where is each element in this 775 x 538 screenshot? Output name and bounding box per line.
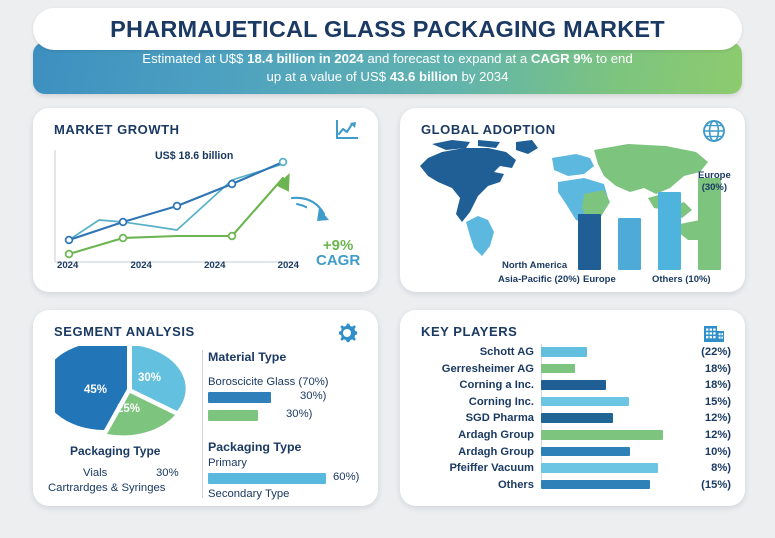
key-player-value: (22%)	[663, 346, 731, 358]
key-player-bar	[541, 397, 629, 407]
key-player-bar	[541, 480, 650, 490]
primary-label: Primary	[208, 457, 247, 469]
cagr-value: +9%	[316, 238, 360, 253]
material-bar-2	[208, 410, 258, 421]
subtitle-highlight-2: CAGR 9%	[531, 51, 593, 66]
key-player-name: Corning a Inc.	[414, 379, 541, 391]
key-player-row: Ardagh Group12%)	[414, 427, 731, 443]
key-player-bar-track	[541, 410, 663, 426]
pie-label-25: 25%	[117, 403, 140, 415]
key-player-row: Ardagh Group10%)	[414, 444, 731, 460]
key-player-bar-track	[541, 444, 663, 460]
key-player-bar	[541, 347, 587, 357]
infographic-root: PHARMAUETICAL GLASS PACKAGING MARKET Est…	[0, 0, 775, 538]
subtitle-part-1: Estimated at U$$	[142, 51, 247, 66]
card-key-players: KEY PLAYERS Schott AG(22%)Gerresheimer A…	[400, 310, 745, 506]
key-player-bar-track	[541, 344, 663, 360]
material-type-heading: Material Type	[208, 350, 286, 364]
card-global-adoption: GLOBAL ADOPTION	[400, 108, 745, 292]
key-player-bar	[541, 413, 613, 423]
adoption-label-europe: Europe	[583, 274, 616, 285]
subtitle-text: Estimated at U$$ 18.4 billion in 2024 an…	[142, 50, 632, 86]
vials-value: 30%	[156, 467, 179, 479]
building-icon	[701, 320, 727, 346]
key-player-value: (15%)	[663, 479, 731, 491]
adoption-label-asia-pacific: Asia-Pacific (20%)	[498, 274, 580, 285]
adoption-bar-others	[658, 192, 681, 270]
subtitle-part-3: to end	[592, 51, 632, 66]
key-player-name: SGD Pharma	[414, 412, 541, 424]
key-player-name: Ardagh Group	[414, 429, 541, 441]
key-player-name: Others	[414, 479, 541, 491]
pie-label-45: 45%	[84, 384, 107, 396]
pie-label-30: 30%	[138, 372, 161, 384]
key-player-value: 8%)	[663, 462, 731, 474]
material-bar-2-value: 30%)	[286, 408, 312, 420]
key-player-value: 10%)	[663, 446, 731, 458]
key-player-row: SGD Pharma12%)	[414, 410, 731, 426]
adoption-label-north-america: North America	[502, 260, 567, 271]
cagr-label: CAGR	[316, 253, 360, 268]
key-player-name: Corning Inc.	[414, 396, 541, 408]
key-player-bar-track	[541, 394, 663, 410]
key-player-value: 18%)	[663, 379, 731, 391]
map-south-america	[466, 216, 494, 256]
subtitle-part-4: up at a value of US$	[267, 69, 390, 84]
adoption-bar-europe	[618, 218, 641, 270]
card-title-segment-analysis: SEGMENT ANALYSIS	[54, 324, 195, 339]
growth-axis-ticks: 2024 2024 2024 2024	[47, 260, 309, 271]
title-banner: PHARMAUETICAL GLASS PACKAGING MARKET	[33, 8, 742, 50]
segment-divider	[202, 350, 203, 498]
material-item-label: Boroscicite Glass (70%)	[208, 376, 329, 388]
card-segment-analysis: SEGMENT ANALYSIS 45% 30% 25%	[33, 310, 378, 506]
subtitle-highlight-3: 43.6 billion	[390, 69, 458, 84]
card-title-key-players: KEY PLAYERS	[421, 324, 517, 339]
key-player-name: Gerresheimer AG	[414, 363, 541, 375]
key-player-name: Ardagh Group	[414, 446, 541, 458]
cagr-pointer-arrow	[288, 192, 348, 236]
key-player-row: Pfeiffer Vacuum8%)	[414, 460, 731, 476]
secondary-label: Secondary Type	[208, 488, 289, 500]
cagr-badge: +9% CAGR	[316, 238, 360, 268]
key-player-bar-track	[541, 361, 663, 377]
key-player-row: Gerresheimer AG18%)	[414, 361, 731, 377]
adoption-label-others: Others (10%)	[652, 274, 711, 285]
map-north-america	[420, 148, 516, 222]
key-player-value: 15%)	[663, 396, 731, 408]
card-title-market-growth: MARKET GROWTH	[54, 122, 180, 137]
axis-tick-2: 2024	[204, 260, 225, 271]
axis-tick-0: 2024	[57, 260, 78, 271]
adoption-top-label-line1: Europe	[698, 170, 731, 181]
key-player-value: 12%)	[663, 429, 731, 441]
packaging-type-pie-chart: 45% 30% 25%	[55, 346, 205, 438]
adoption-top-label-line2: (30%)	[702, 182, 727, 193]
key-player-bar-track	[541, 477, 663, 493]
key-player-bar	[541, 447, 630, 457]
market-growth-line-chart	[47, 144, 307, 278]
key-player-bar	[541, 430, 663, 440]
key-player-bar-track	[541, 460, 663, 476]
key-player-bar-track	[541, 427, 663, 443]
key-player-bar	[541, 463, 658, 473]
packaging-type-heading-right: Packaging Type	[208, 440, 301, 454]
adoption-top-label: Europe (30%)	[698, 170, 731, 194]
key-player-name: Pfeiffer Vacuum	[414, 462, 541, 474]
key-player-value: 18%)	[663, 363, 731, 375]
key-player-bar-track	[541, 377, 663, 393]
cartridges-label: Cartrardges & Syringes	[48, 482, 165, 494]
card-market-growth: MARKET GROWTH US$ 18.6 billion	[33, 108, 378, 292]
key-player-bar	[541, 380, 606, 390]
key-player-row: Corning Inc.15%)	[414, 394, 731, 410]
key-player-row: Corning a Inc.18%)	[414, 377, 731, 393]
primary-value: 60%)	[333, 471, 359, 483]
key-player-value: 12%)	[663, 412, 731, 424]
page-title: PHARMAUETICAL GLASS PACKAGING MARKET	[110, 16, 665, 43]
subtitle-part-5: by 2034	[458, 69, 509, 84]
material-bar-1	[208, 392, 271, 403]
key-player-row: Schott AG(22%)	[414, 344, 731, 360]
line-chart-icon	[334, 118, 360, 144]
key-player-row: Others(15%)	[414, 477, 731, 493]
adoption-bar-north-america	[578, 214, 601, 270]
card-title-global-adoption: GLOBAL ADOPTION	[421, 122, 556, 137]
header: PHARMAUETICAL GLASS PACKAGING MARKET Est…	[33, 8, 742, 94]
axis-tick-3: 2024	[278, 260, 299, 271]
material-bar-1-value: 30%)	[300, 390, 326, 402]
subtitle-part-2: and forecast to expand at a	[364, 51, 531, 66]
key-player-bar	[541, 364, 575, 374]
axis-tick-1: 2024	[131, 260, 152, 271]
key-player-name: Schott AG	[414, 346, 541, 358]
vials-label: Vials	[83, 467, 107, 479]
gear-icon	[334, 320, 360, 346]
subtitle-highlight-1: 18.4 billion in 2024	[247, 51, 364, 66]
packaging-type-heading-left: Packaging Type	[70, 444, 160, 458]
primary-bar	[208, 473, 326, 484]
